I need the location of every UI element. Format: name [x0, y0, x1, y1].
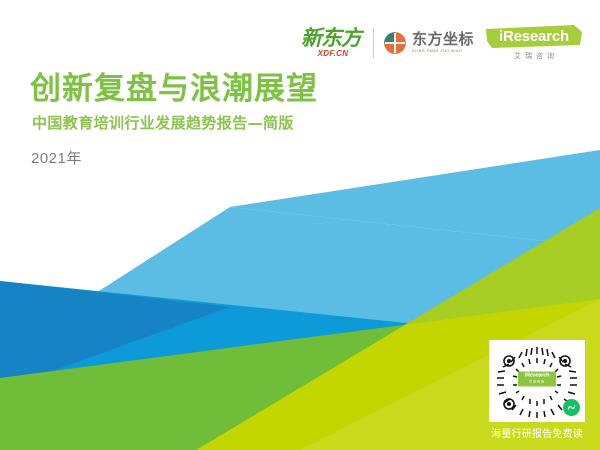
dongfang-zuobiao-wordmark: 东方坐标 [412, 32, 474, 47]
dongfang-zuobiao-mark-icon [383, 31, 407, 55]
wechat-miniprogram-icon [563, 399, 580, 416]
report-year: 2021年 [31, 147, 82, 168]
xdf-domain: XDF.CN [318, 50, 349, 58]
logo-divider [373, 28, 374, 58]
logo-bar: 新东方 XDF.CN 东方坐标 DONG FANG ZUO BIAO [302, 22, 582, 64]
qr-code[interactable]: iResearch 艾瑞咨询 [489, 340, 585, 422]
xdf-wordmark: 新东方 [302, 28, 361, 49]
qr-caption: 海量行研报告免费读 [489, 422, 585, 440]
qr-center-logo: iResearch 艾瑞咨询 [518, 371, 556, 386]
xdf-logo: 新东方 XDF.CN [302, 24, 364, 62]
iresearch-sub: 艾瑞咨询 [510, 51, 558, 61]
qr-center-sub: 艾瑞咨询 [529, 380, 545, 383]
iresearch-wordmark: iResearch [486, 25, 582, 48]
title-block: 创新复盘与浪潮展望 中国教育培训行业发展趋势报告—简版 [30, 72, 318, 133]
iresearch-banner: iResearch [486, 25, 582, 48]
page-title: 创新复盘与浪潮展望 [30, 72, 318, 107]
report-cover-slide: 新东方 XDF.CN 东方坐标 DONG FANG ZUO BIAO [0, 0, 600, 450]
dongfang-zuobiao-tagline: DONG FANG ZUO BIAO [412, 50, 474, 54]
qr-block: iResearch 艾瑞咨询 海量行研报告免费读 [489, 340, 585, 440]
dongfang-zuobiao-text: 东方坐标 DONG FANG ZUO BIAO [412, 32, 474, 53]
iresearch-logo: iResearch 艾瑞咨询 [486, 25, 582, 61]
dongfang-zuobiao-logo: 东方坐标 DONG FANG ZUO BIAO [383, 31, 474, 55]
page-subtitle: 中国教育培训行业发展趋势报告—简版 [32, 112, 318, 133]
